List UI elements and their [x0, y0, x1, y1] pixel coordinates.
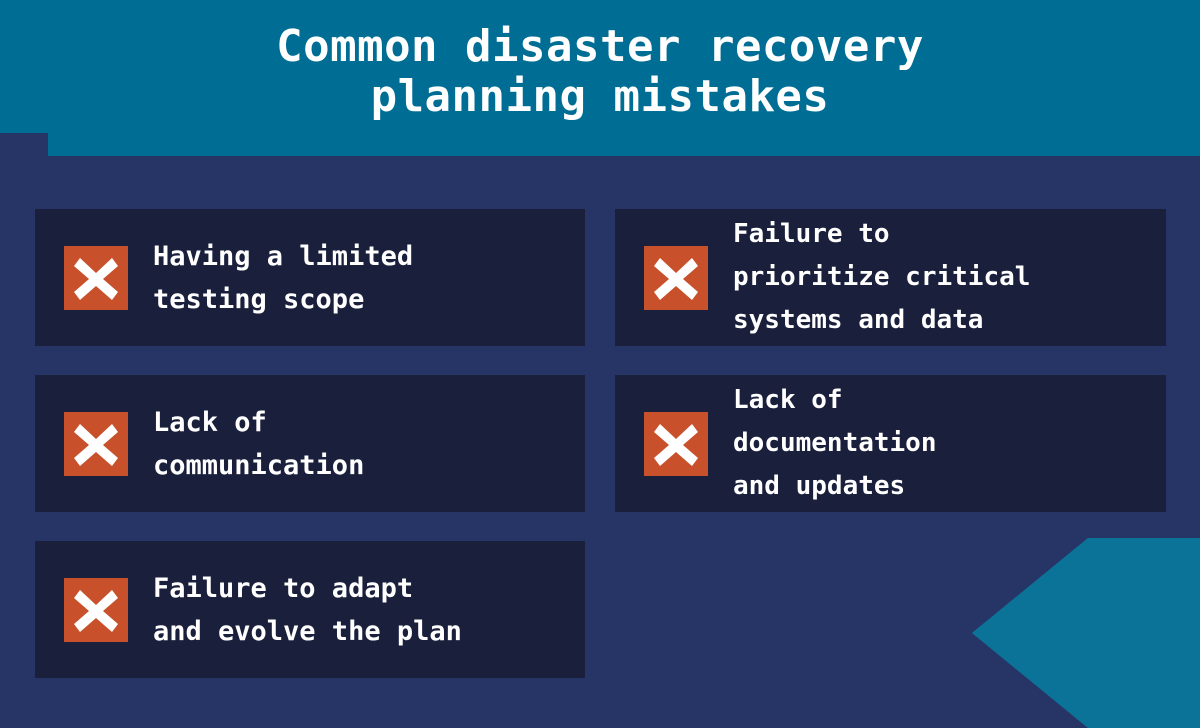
- mistake-card-5-text: Failure to adapt and evolve the plan: [153, 567, 472, 653]
- mistake-card-4[interactable]: Lack of documentation and updates: [615, 375, 1166, 512]
- mistake-card-2[interactable]: Failure to prioritize critical systems a…: [615, 209, 1166, 346]
- x-mark-icon: [644, 412, 708, 476]
- mistake-card-5[interactable]: Failure to adapt and evolve the plan: [35, 541, 585, 678]
- header-band: [0, 0, 1200, 133]
- slide-root: Common disaster recovery planning mistak…: [0, 0, 1200, 728]
- mistake-card-2-text: Failure to prioritize critical systems a…: [733, 213, 1040, 342]
- x-mark-icon: [64, 246, 128, 310]
- mistake-card-3[interactable]: Lack of communication: [35, 375, 585, 512]
- x-mark-icon: [644, 246, 708, 310]
- mistake-card-1-text: Having a limited testing scope: [153, 235, 423, 321]
- mistake-card-1[interactable]: Having a limited testing scope: [35, 209, 585, 346]
- header-notch: [0, 133, 48, 156]
- mistake-card-4-text: Lack of documentation and updates: [733, 379, 947, 508]
- mistakes-card-grid: Having a limited testing scope Failure t…: [0, 156, 1200, 728]
- header-band-extension: [48, 133, 1200, 156]
- mistake-card-3-text: Lack of communication: [153, 401, 374, 487]
- x-mark-icon: [64, 578, 128, 642]
- x-mark-icon: [64, 412, 128, 476]
